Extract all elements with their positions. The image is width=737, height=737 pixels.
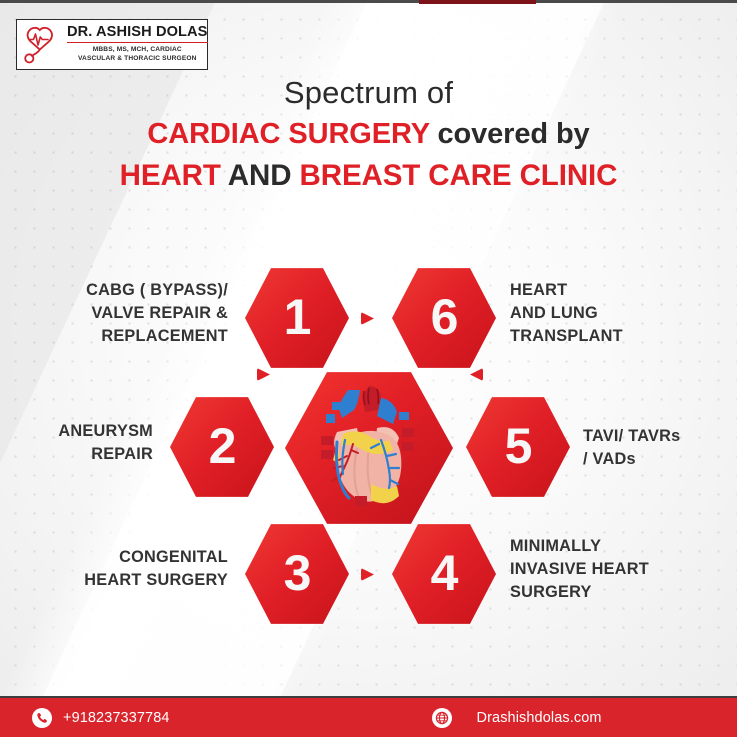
- label-item-5: TAVI/ TAVRs / VADs: [583, 425, 735, 471]
- heart-ecg-icon: [21, 23, 67, 67]
- label-item-2: ANEURYSM REPAIR: [0, 420, 153, 466]
- hexagon-number-3: 3: [284, 548, 311, 598]
- hexagon-number-5: 5: [505, 421, 532, 471]
- label-item-4: MINIMALLY INVASIVE HEART SURGERY: [510, 535, 734, 604]
- globe-icon: [432, 708, 452, 728]
- anatomical-heart-icon: [307, 384, 432, 512]
- hexagon-number-6: 6: [431, 292, 458, 342]
- hexagon-item-2[interactable]: 2: [170, 394, 274, 500]
- footer-phone-number: +918237337784: [63, 710, 170, 726]
- hexagon-item-6[interactable]: 6: [392, 265, 496, 371]
- footer-phone-item[interactable]: +918237337784: [32, 708, 170, 728]
- hexagon-item-4[interactable]: 4: [392, 521, 496, 627]
- label-item-1: CABG ( BYPASS)/ VALVE REPAIR & REPLACEME…: [0, 279, 228, 348]
- hexagon-item-1[interactable]: 1: [245, 265, 349, 371]
- logo-qualification-line-2: VASCULAR & THORACIC SURGEON: [67, 55, 208, 64]
- infographic-canvas: DR. ASHISH DOLAS MBBS, MS, MCH, CARDIAC …: [0, 0, 737, 737]
- logo-qualification-line-1: MBBS, MS, MCH, CARDIAC: [67, 46, 208, 55]
- hexagon-item-5[interactable]: 5: [466, 394, 570, 500]
- hexagon-item-3[interactable]: 3: [245, 521, 349, 627]
- footer-website-item[interactable]: Drashishdolas.com: [432, 708, 602, 728]
- connector-arrow-5: [470, 368, 483, 381]
- logo-doctor-name: DR. ASHISH DOLAS: [67, 25, 208, 40]
- spectrum-diagram: 1 CABG ( BYPASS)/ VALVE REPAIR & REPLACE…: [0, 0, 737, 737]
- hexagon-number-4: 4: [431, 548, 458, 598]
- footer-website-url: Drashishdolas.com: [477, 710, 602, 726]
- logo-text-block: DR. ASHISH DOLAS MBBS, MS, MCH, CARDIAC …: [67, 25, 208, 63]
- hexagon-number-2: 2: [209, 421, 236, 471]
- hexagon-number-1: 1: [284, 292, 311, 342]
- center-hexagon: [285, 369, 453, 527]
- footer-bar: +918237337784 Drashishdolas.com: [0, 698, 737, 737]
- connector-arrow-1: [361, 312, 374, 325]
- phone-icon: [32, 708, 52, 728]
- connector-arrow-3: [361, 568, 374, 581]
- connector-arrow-2: [257, 368, 270, 381]
- label-item-3: CONGENITAL HEART SURGERY: [0, 546, 228, 592]
- clinic-logo: DR. ASHISH DOLAS MBBS, MS, MCH, CARDIAC …: [16, 19, 208, 70]
- logo-divider: [67, 42, 208, 44]
- label-item-6: HEART AND LUNG TRANSPLANT: [510, 279, 732, 348]
